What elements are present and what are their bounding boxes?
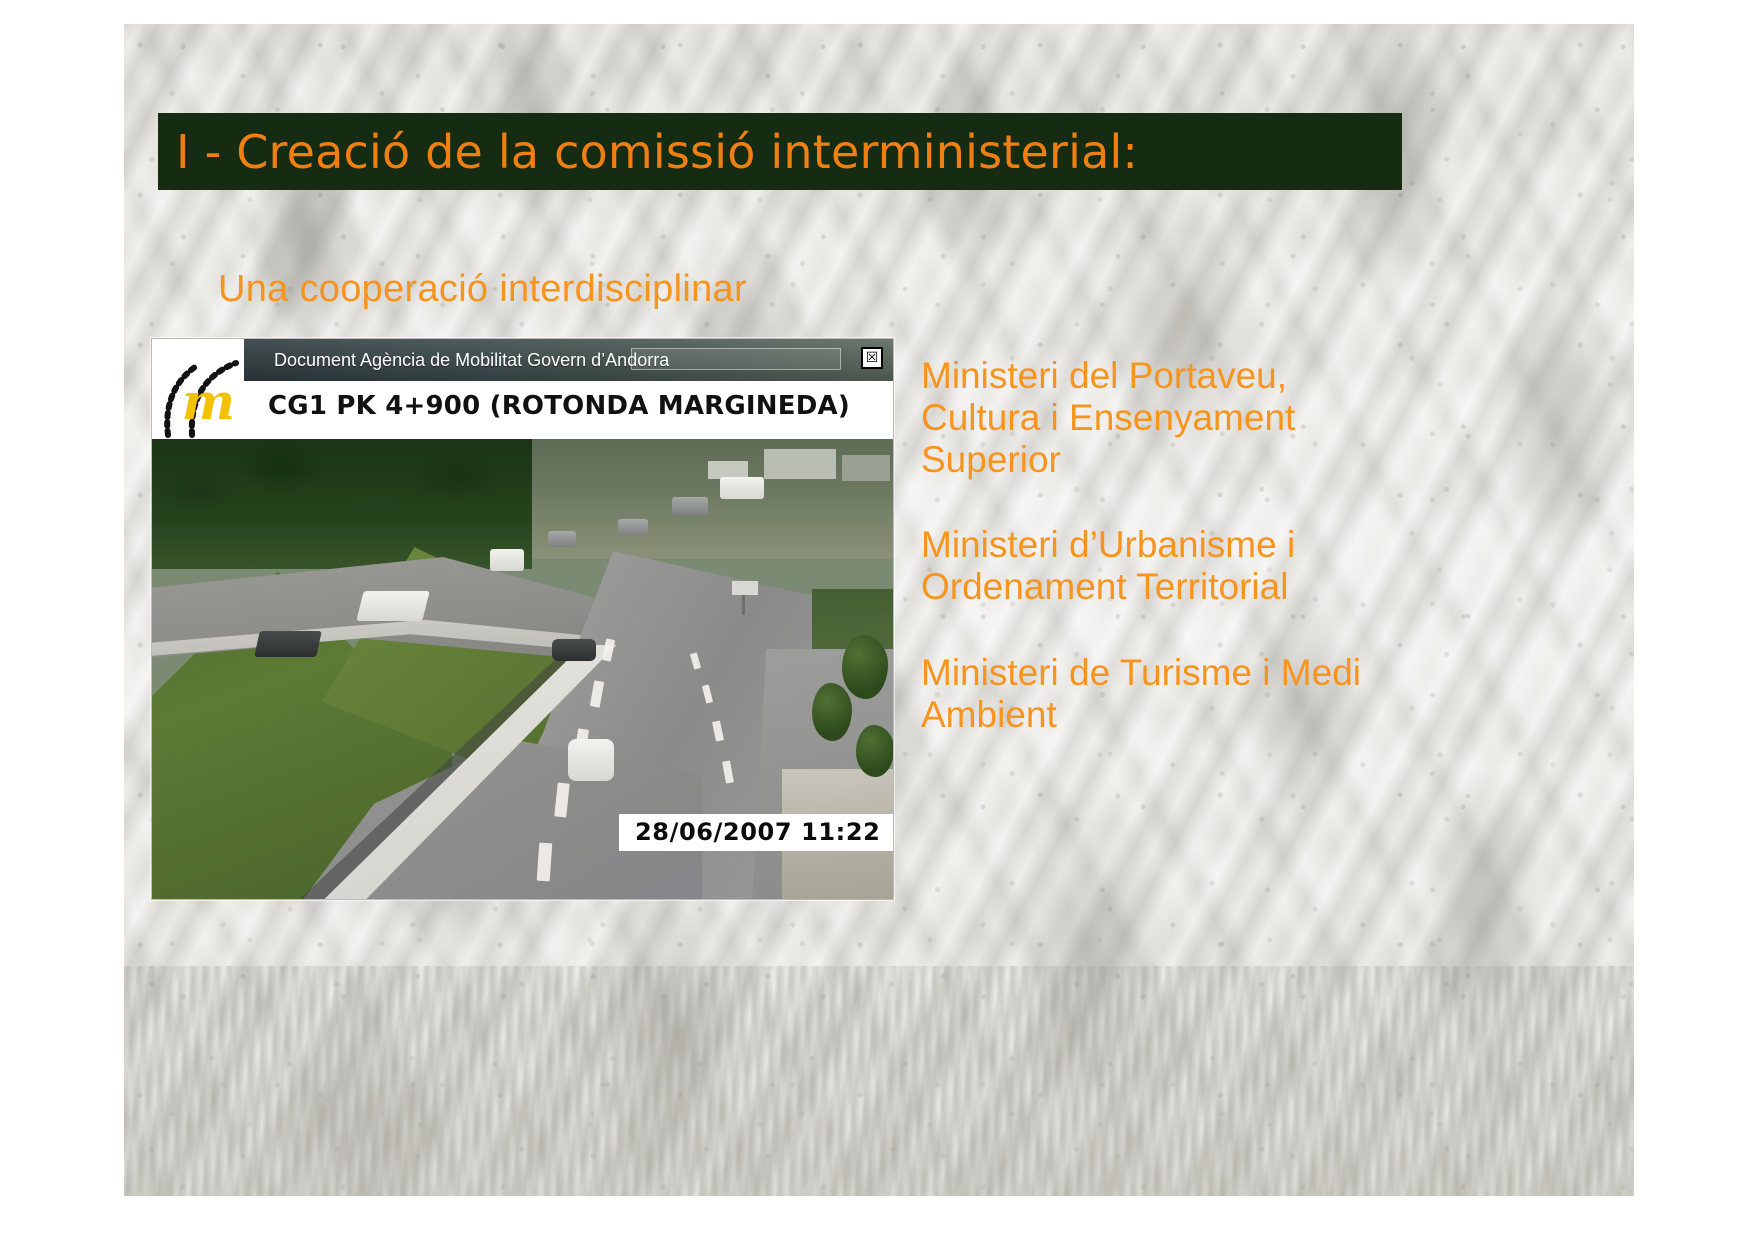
window-title-text: Document Agència de Mobilitat Govern d’A… (244, 350, 669, 371)
mobilitat-logo: m (152, 339, 244, 439)
photo-tree (842, 635, 888, 699)
photo-vehicle-truck (356, 591, 429, 621)
photo-vehicle-car (552, 639, 596, 661)
ministry-item: Ministeri d’Urbanisme i Ordenament Terri… (921, 524, 1391, 608)
photo-building (842, 455, 890, 481)
photo-vehicle-car (254, 631, 322, 657)
photo-sign-post (742, 595, 745, 615)
camera-id-label: CG1 PK 4+900 (ROTONDA MARGINEDA) (244, 391, 850, 421)
close-icon[interactable]: ☒ (861, 347, 883, 369)
window-title-bar: m Document Agència de Mobilitat Govern d… (152, 339, 894, 381)
photo-lane-dash (537, 843, 553, 882)
window-url-field[interactable] (631, 348, 841, 370)
slide-title-band: I - Creació de la comissió interminister… (158, 113, 1402, 190)
photo-building (764, 449, 836, 479)
photo-vehicle-truck (720, 477, 764, 499)
photo-tree (812, 683, 852, 741)
ministry-item: Ministeri del Portaveu, Cultura i Enseny… (921, 355, 1391, 480)
photo-forest (152, 439, 532, 569)
window-title-bar-body: Document Agència de Mobilitat Govern d’A… (244, 339, 894, 381)
traffic-camera-window[interactable]: m Document Agència de Mobilitat Govern d… (151, 338, 894, 900)
rock-vegetation-strip (124, 966, 1634, 1196)
photo-road-sign (732, 581, 758, 595)
photo-vehicle-car (618, 519, 648, 535)
camera-timestamp: 28/06/2007 11:22 (619, 814, 894, 851)
slide-subtitle: Una cooperació interdisciplinar (218, 268, 747, 311)
ministry-list: Ministeri del Portaveu, Cultura i Enseny… (921, 355, 1391, 736)
photo-tree (856, 725, 894, 777)
photo-vehicle-car (672, 497, 708, 515)
slide-title: I - Creació de la comissió interminister… (158, 125, 1138, 179)
logo-letter-m: m (182, 377, 235, 427)
photo-vehicle-van (490, 549, 524, 571)
photo-vehicle-car (568, 739, 614, 781)
presentation-slide: I - Creació de la comissió interminister… (0, 0, 1755, 1241)
camera-photo: 28/06/2007 11:22 (152, 439, 894, 900)
photo-vehicle-car (548, 531, 576, 547)
ministry-item: Ministeri de Turisme i Medi Ambient (921, 652, 1391, 736)
camera-caption-bar: CG1 PK 4+900 (ROTONDA MARGINEDA) (244, 381, 894, 431)
